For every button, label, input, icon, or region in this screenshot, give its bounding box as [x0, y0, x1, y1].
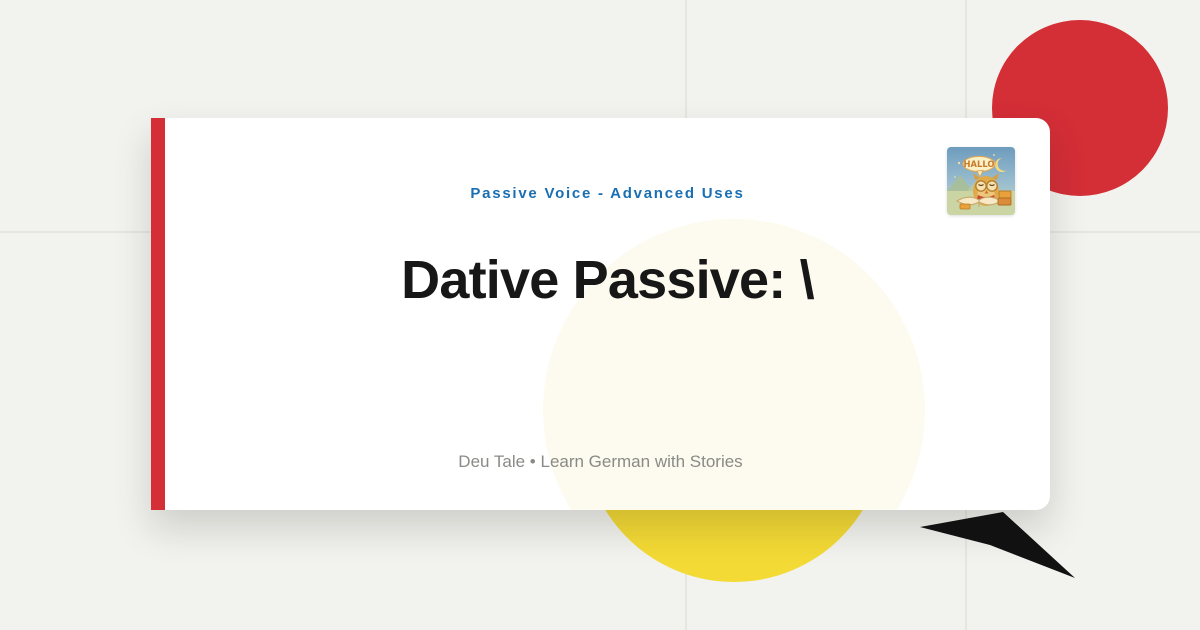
slide-eyebrow: Passive Voice - Advanced Uses: [470, 185, 744, 202]
svg-text:HALLO: HALLO: [964, 159, 995, 169]
owl-reading-logo-icon: HALLO: [947, 147, 1015, 215]
slide-title: Dative Passive: \: [401, 250, 814, 310]
black-dart-decoration: [900, 495, 1100, 605]
slide-footer-brand: Deu Tale • Learn German with Stories: [151, 452, 1050, 472]
slide-card: Passive Voice - Advanced Uses Dative Pas…: [151, 118, 1050, 510]
card-accent-bar: [151, 118, 165, 510]
slide-content: Passive Voice - Advanced Uses Dative Pas…: [151, 118, 1050, 510]
